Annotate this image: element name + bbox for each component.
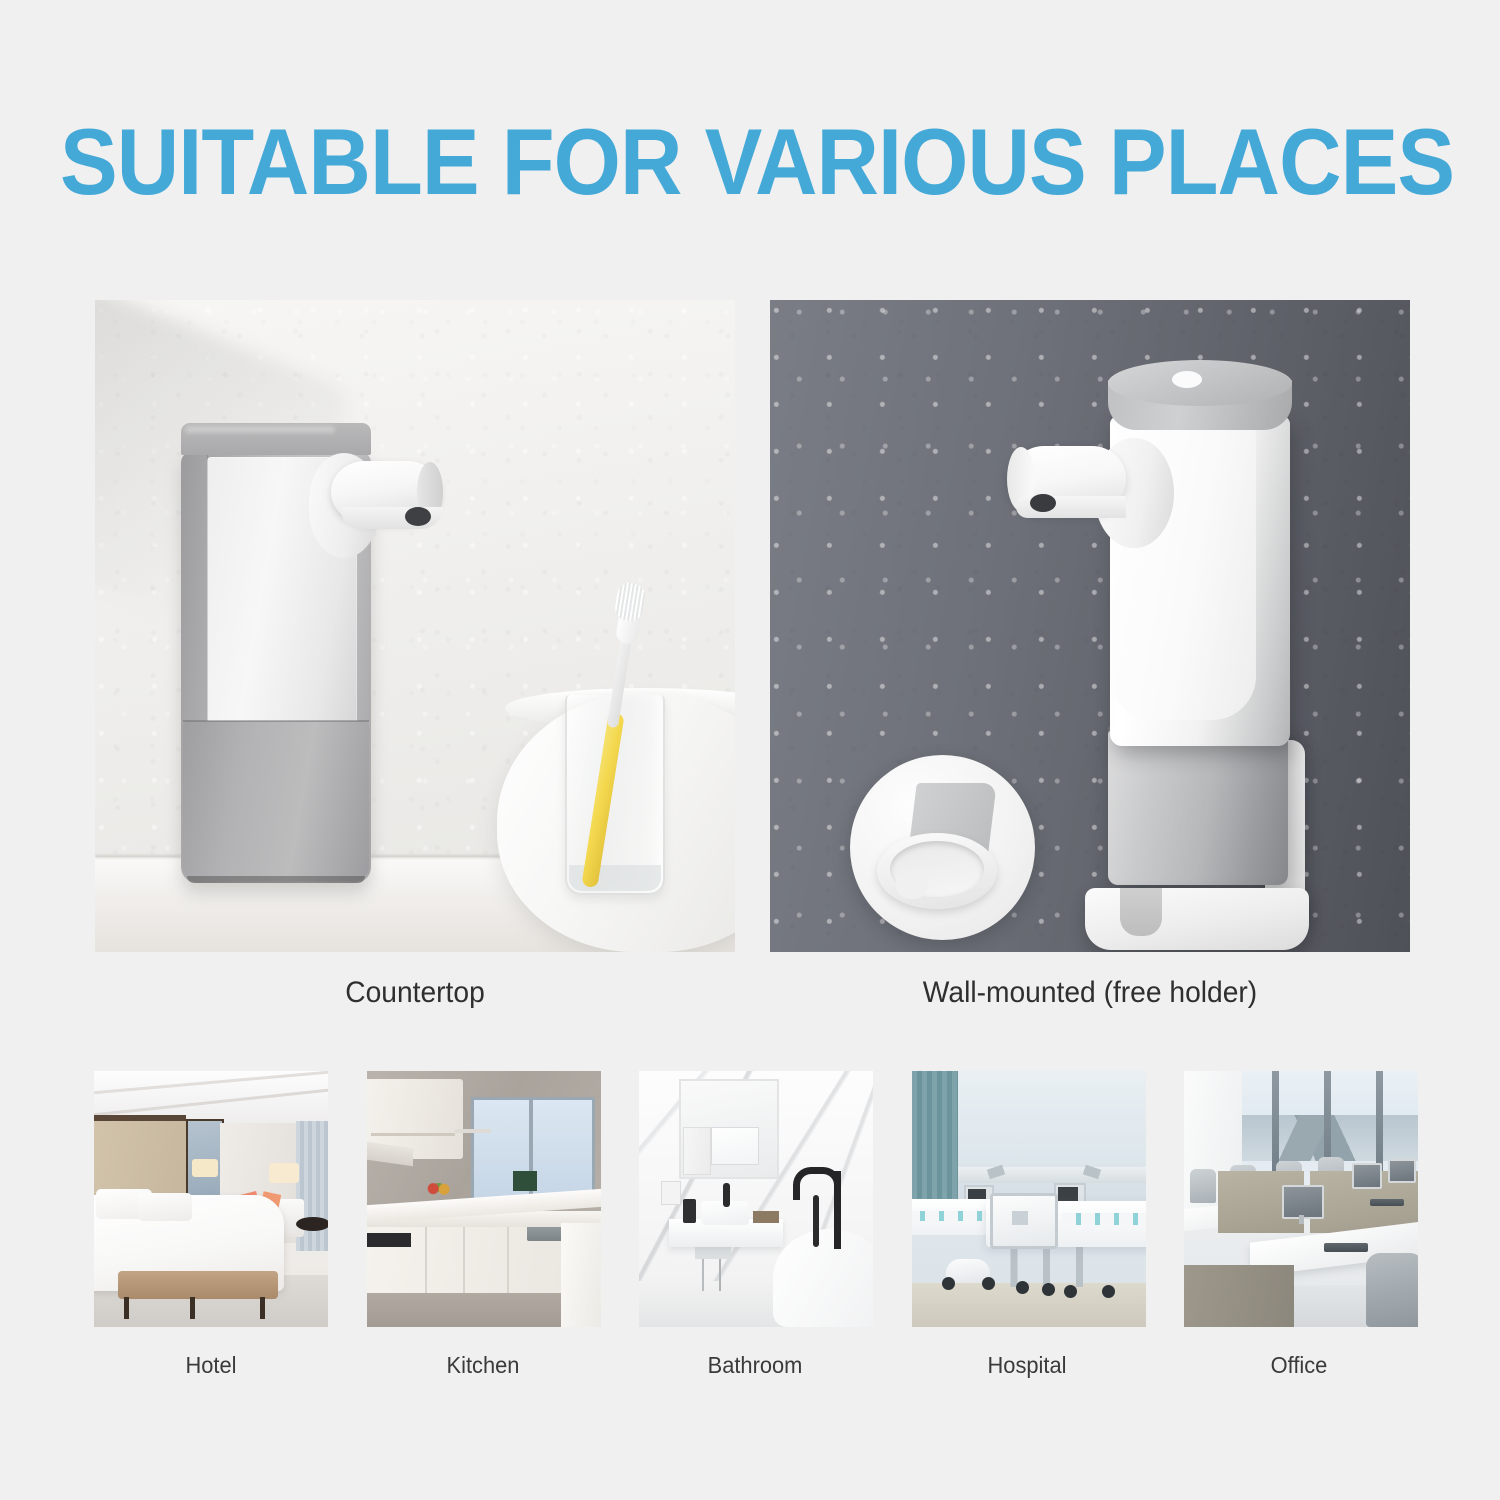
wall-holder-notch xyxy=(1120,888,1162,936)
infrared-sensor-icon xyxy=(405,507,431,526)
dispenser-cap xyxy=(181,423,371,455)
soap-dispenser-countertop xyxy=(181,423,371,883)
thumbnail-office xyxy=(1184,1071,1418,1327)
caption-wall-mounted: Wall-mounted (free holder) xyxy=(789,976,1391,1010)
place-item-office xyxy=(1184,1071,1418,1327)
caption-countertop: Countertop xyxy=(114,976,716,1010)
infrared-sensor-icon xyxy=(1030,494,1056,512)
place-label-bathroom: Bathroom xyxy=(644,1352,866,1379)
thumbnail-bathroom xyxy=(639,1071,873,1327)
thumbnail-hospital xyxy=(912,1071,1146,1327)
dispenser-tank xyxy=(183,721,369,881)
place-label-hospital: Hospital xyxy=(916,1352,1138,1379)
place-label-hotel: Hotel xyxy=(100,1352,322,1379)
place-label-kitchen: Kitchen xyxy=(372,1352,594,1379)
dispenser-tank xyxy=(1108,730,1288,885)
dispenser-tank-seam xyxy=(183,720,369,722)
place-item-kitchen xyxy=(367,1071,601,1327)
showcase-image-countertop xyxy=(95,300,735,952)
showcase-image-wall-mounted xyxy=(770,300,1410,952)
holder-detail-inset xyxy=(850,755,1035,940)
place-label-office: Office xyxy=(1188,1352,1410,1379)
dispenser-foot xyxy=(187,876,365,883)
page-title: SUITABLE FOR VARIOUS PLACES xyxy=(60,108,1440,216)
place-item-hotel xyxy=(94,1071,328,1327)
soap-dispenser-wall xyxy=(1100,360,1300,880)
cap-button-icon xyxy=(1172,371,1202,388)
cap-highlight xyxy=(185,426,335,433)
place-item-bathroom xyxy=(639,1071,873,1327)
thumbnail-kitchen xyxy=(367,1071,601,1327)
place-item-hospital xyxy=(912,1071,1146,1327)
promo-page: SUITABLE FOR VARIOUS PLACES xyxy=(0,0,1500,1500)
places-thumbnail-row xyxy=(94,1071,1418,1327)
wall-holder-tray xyxy=(1085,888,1309,950)
thumbnail-hotel xyxy=(94,1071,328,1327)
